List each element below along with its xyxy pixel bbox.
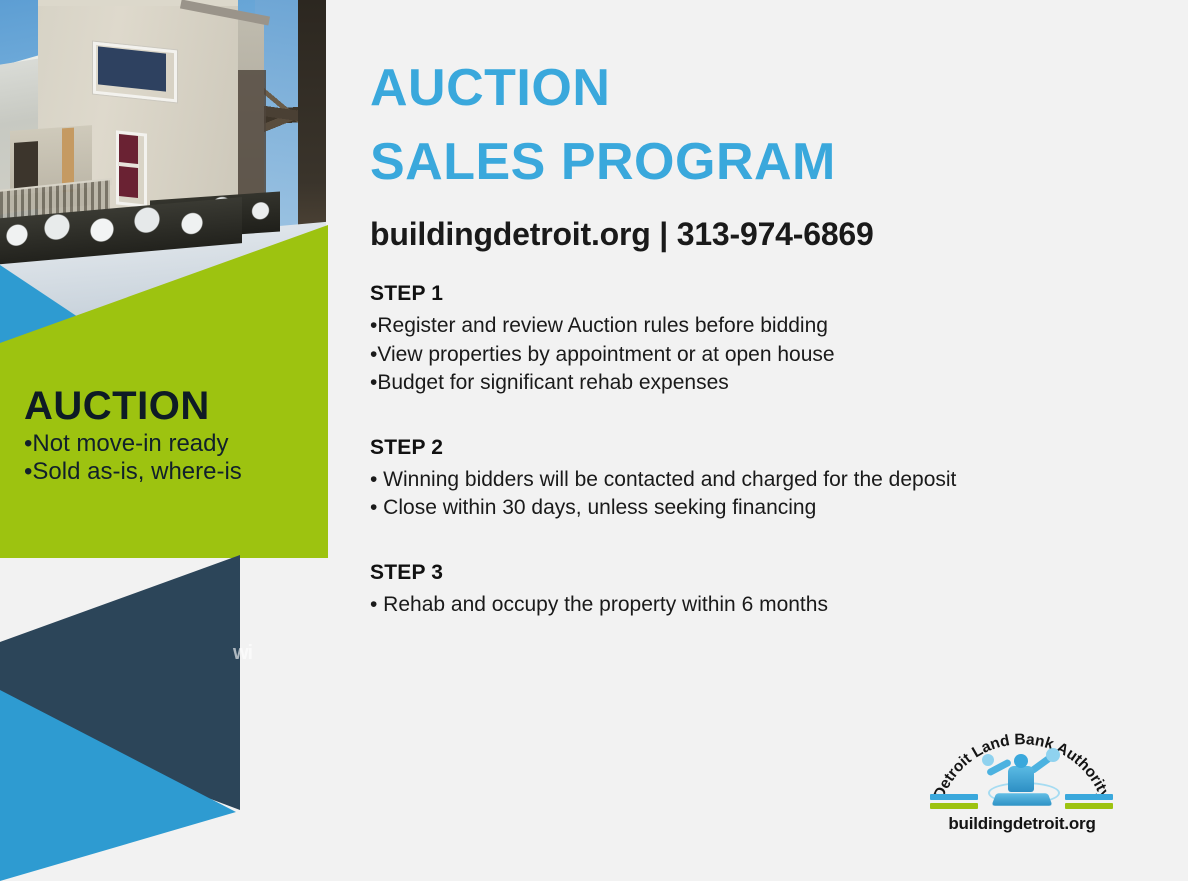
steps-section: STEP 1 •Register and review Auction rule…	[370, 282, 1160, 645]
photo-right-dark-edge	[298, 0, 326, 260]
logo-website-url[interactable]: buildingdetroit.org	[922, 814, 1122, 834]
figure-body	[1008, 766, 1034, 792]
photo-upper-window-frame	[93, 42, 177, 103]
figure-right-hand	[1046, 748, 1060, 762]
step-2-bullet: • Close within 30 days, unless seeking f…	[370, 494, 1160, 523]
watermark-text-fragment: wi	[233, 643, 252, 663]
left-graphic-column: wi AUCTION •Not move-in ready •Sold as-i…	[0, 0, 330, 881]
step-2-heading: STEP 2	[370, 436, 1160, 460]
auction-callout-bullet: •Not move-in ready	[24, 430, 314, 458]
step-3-bullet: • Rehab and occupy the property within 6…	[370, 591, 1160, 620]
step-block-3: STEP 3 • Rehab and occupy the property w…	[370, 561, 1160, 620]
logo-bar-green	[930, 803, 978, 809]
logo-bars-right	[1065, 794, 1113, 809]
step-2-bullet: • Winning bidders will be contacted and …	[370, 466, 1160, 495]
step-1-heading: STEP 1	[370, 282, 1160, 306]
step-block-1: STEP 1 •Register and review Auction rule…	[370, 282, 1160, 398]
figure-left-hand	[982, 754, 994, 766]
logo-bar-blue	[930, 794, 978, 800]
step-1-bullet: •View properties by appointment or at op…	[370, 341, 1160, 370]
step-3-heading: STEP 3	[370, 561, 1160, 585]
title-block: AUCTION SALES PROGRAM buildingdetroit.or…	[370, 52, 1160, 253]
logo-bar-green	[1065, 803, 1113, 809]
step-block-2: STEP 2 • Winning bidders will be contact…	[370, 436, 1160, 523]
auction-sales-program-poster: wi AUCTION •Not move-in ready •Sold as-i…	[0, 0, 1188, 881]
auction-callout-bullet: •Sold as-is, where-is	[24, 458, 314, 486]
logo-bar-blue	[1065, 794, 1113, 800]
figure-base	[991, 793, 1052, 805]
step-2-list: • Winning bidders will be contacted and …	[370, 466, 1160, 523]
content-column: AUCTION SALES PROGRAM buildingdetroit.or…	[330, 0, 1188, 881]
step-1-bullet: •Register and review Auction rules befor…	[370, 312, 1160, 341]
page-title-line-2: SALES PROGRAM	[370, 126, 1160, 200]
photo-lower-window-frame	[116, 130, 147, 207]
contact-line[interactable]: buildingdetroit.org | 313-974-6869	[370, 216, 1160, 253]
spirit-of-detroit-icon	[984, 748, 1060, 810]
auction-callout: AUCTION •Not move-in ready •Sold as-is, …	[24, 386, 314, 487]
step-1-bullet: •Budget for significant rehab expenses	[370, 369, 1160, 398]
figure-head	[1014, 754, 1028, 768]
logo-bars-left	[930, 794, 978, 809]
auction-callout-heading: AUCTION	[24, 386, 314, 426]
page-title-line-1: AUCTION	[370, 52, 1160, 126]
detroit-land-bank-authority-logo[interactable]: Detroit Land Bank Authority	[922, 706, 1122, 841]
step-3-list: • Rehab and occupy the property within 6…	[370, 591, 1160, 620]
step-1-list: •Register and review Auction rules befor…	[370, 312, 1160, 398]
